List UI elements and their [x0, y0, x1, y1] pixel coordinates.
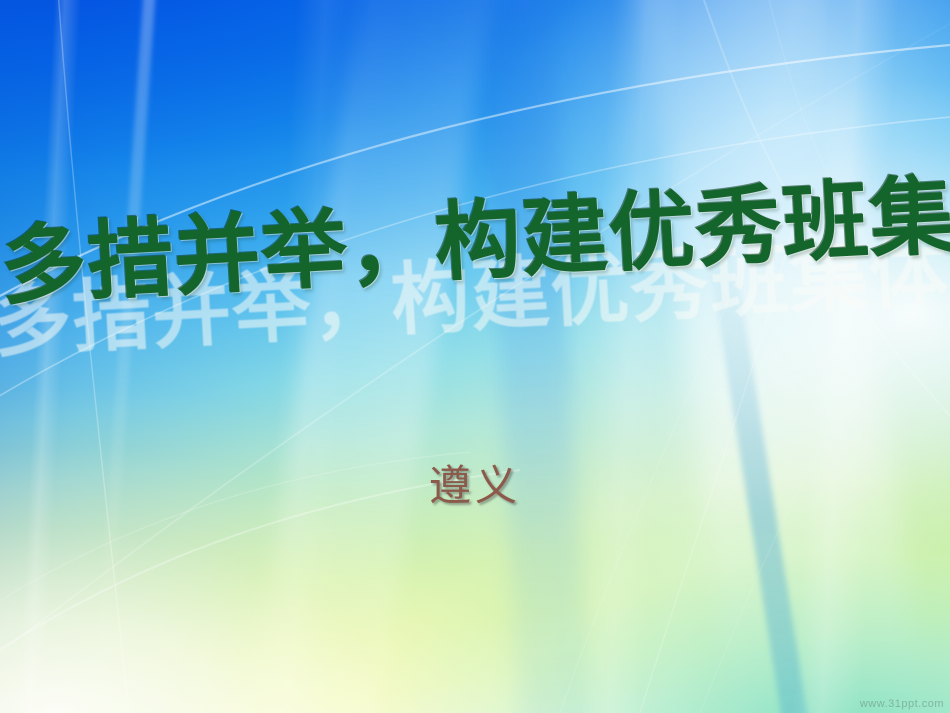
presentation-slide: 多措并举，构建优秀班集体 多措并举，构建优秀班集体 遵义 www.31ppt.c…: [0, 0, 950, 713]
title-block: 多措并举，构建优秀班集体 多措并举，构建优秀班集体: [0, 170, 950, 314]
site-watermark: www.31ppt.com: [860, 698, 944, 710]
slide-subtitle: 遵义: [0, 452, 950, 513]
subtitle-block: 遵义: [0, 452, 950, 513]
slide-content: 多措并举，构建优秀班集体 多措并举，构建优秀班集体 遵义 www.31ppt.c…: [0, 0, 950, 713]
